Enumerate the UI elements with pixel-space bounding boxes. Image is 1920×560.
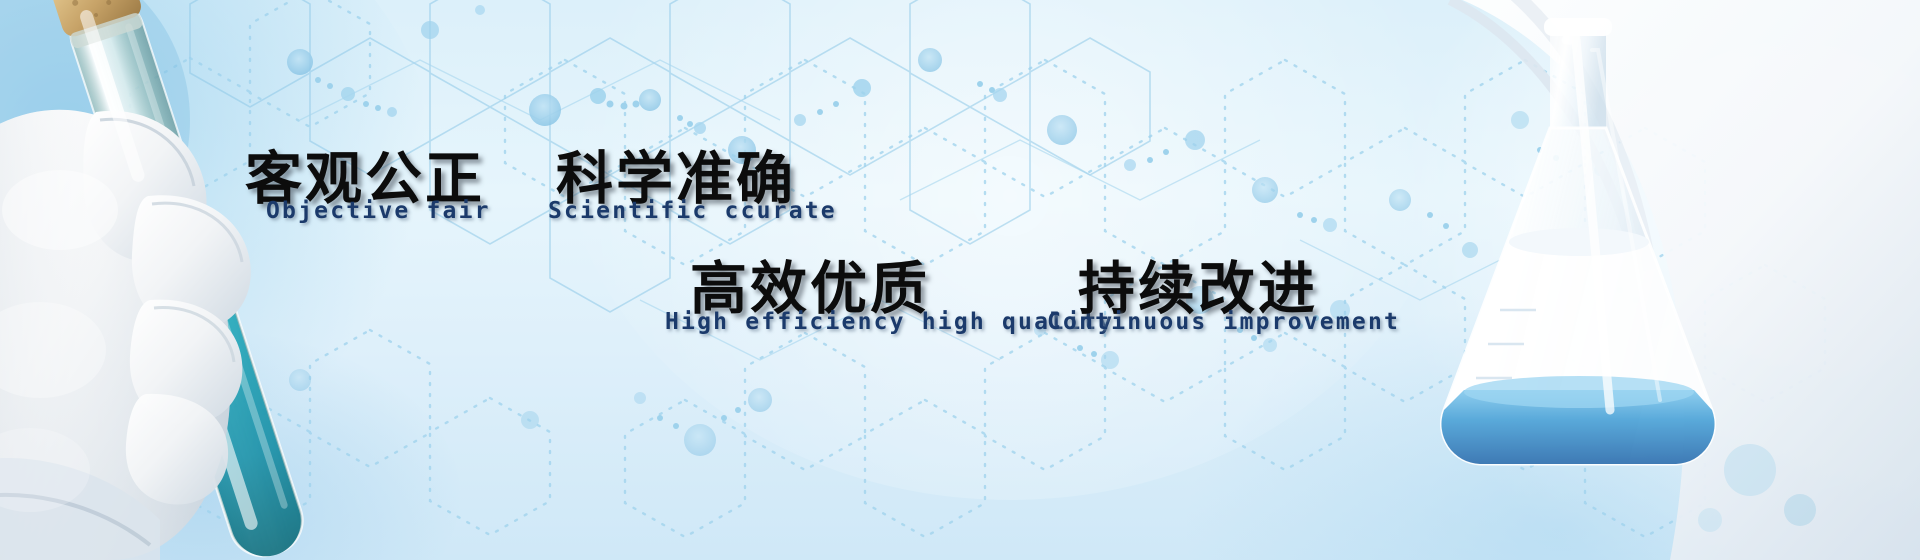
slogan-subtitle-1: Objective fair (266, 198, 491, 224)
lab-slogan-banner: 客观公正 Objective fair 科学准确 Scientific ccur… (0, 0, 1920, 560)
slogan-subtitle-2: Scientific ccurate (548, 198, 837, 224)
slogan-text-block: 客观公正 Objective fair 科学准确 Scientific ccur… (0, 0, 1920, 560)
slogan-subtitle-4: Continuous improvement (1047, 309, 1400, 335)
